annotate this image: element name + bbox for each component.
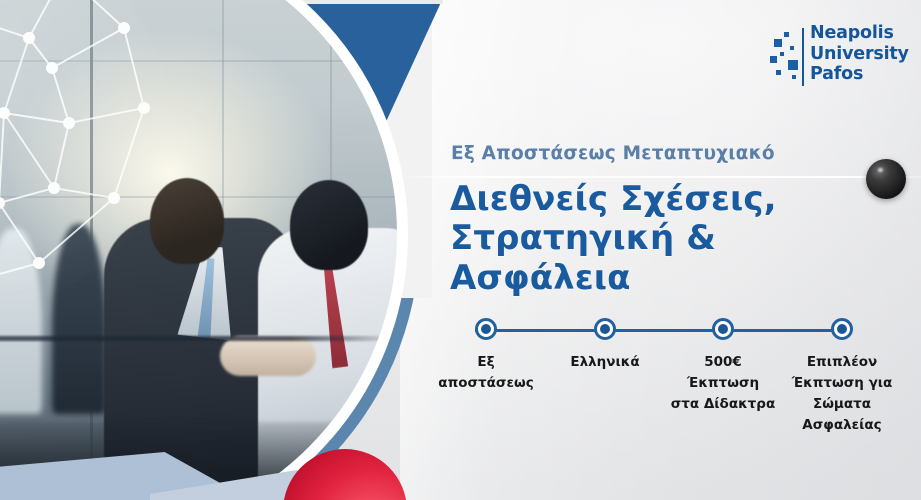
feature-extra-discount: Επιπλέον Έκπτωση για Σώματα Ασφαλείας: [777, 352, 907, 436]
page-title: Διεθνείς Σχέσεις, Στρατηγική & Ασφάλεια: [450, 180, 900, 298]
feature-extra-discount-line-1: Επιπλέον: [777, 352, 907, 373]
feature-extra-discount-line-4: Ασφαλείας: [777, 415, 907, 436]
feature-discount-line-2: Έκπτωση: [658, 373, 788, 394]
feature-discount-line-3: στα Δίδακτρα: [658, 394, 788, 415]
feature-delivery-line-1: Εξ: [421, 352, 551, 373]
page-title-line-1: Διεθνείς Σχέσεις,: [450, 180, 900, 219]
timeline-dot-2[interactable]: [594, 318, 616, 340]
timeline-connector: [475, 329, 833, 332]
feature-discount: 500€ Έκπτωση στα Δίδακτρα: [658, 352, 788, 415]
hero-content: Εξ Αποστάσεως Μεταπτυχιακό Διεθνείς Σχέσ…: [448, 0, 918, 500]
feature-timeline: [448, 318, 868, 342]
timeline-dot-4[interactable]: [831, 318, 853, 340]
page-title-line-2: Στρατηγική & Ασφάλεια: [450, 219, 900, 298]
feature-delivery-line-2: αποστάσεως: [421, 373, 551, 394]
feature-delivery: Εξ αποστάσεως: [421, 352, 551, 394]
feature-discount-line-1: 500€: [658, 352, 788, 373]
timeline-dot-1[interactable]: [475, 318, 497, 340]
banner-root: Neapolis University Pafos Εξ Αποστάσεως …: [0, 0, 921, 500]
feature-extra-discount-line-2: Έκπτωση για: [777, 373, 907, 394]
timeline-dot-3[interactable]: [712, 318, 734, 340]
feature-language-line-1: Ελληνικά: [540, 352, 670, 373]
program-type-label: Εξ Αποστάσεως Μεταπτυχιακό: [451, 143, 775, 164]
feature-extra-discount-line-3: Σώματα: [777, 394, 907, 415]
feature-language: Ελληνικά: [540, 352, 670, 373]
